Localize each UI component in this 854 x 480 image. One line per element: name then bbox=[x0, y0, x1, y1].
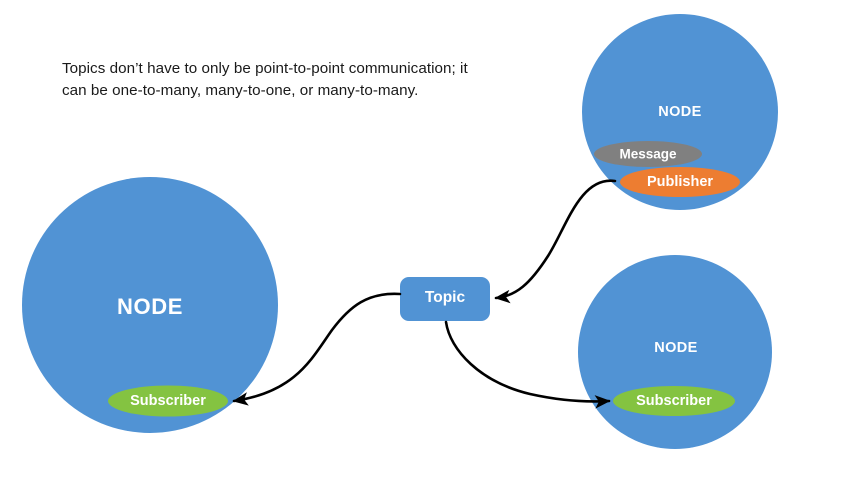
node-label-publisher: NODE bbox=[658, 104, 702, 120]
caption-text: Topics don’t have to only be point-to-po… bbox=[62, 58, 492, 102]
subscriber-label-right: Subscriber bbox=[636, 393, 712, 409]
arrow-publisher-to-topic bbox=[496, 181, 615, 298]
topic-label: Topic bbox=[425, 289, 465, 307]
message-label: Message bbox=[619, 147, 676, 162]
subscriber-label-left: Subscriber bbox=[130, 393, 206, 409]
node-label-subscriber-left: NODE bbox=[117, 294, 183, 320]
node-label-subscriber-right: NODE bbox=[654, 340, 698, 356]
diagram-canvas: Topics don’t have to only be point-to-po… bbox=[0, 0, 854, 480]
publisher-label: Publisher bbox=[647, 174, 713, 190]
